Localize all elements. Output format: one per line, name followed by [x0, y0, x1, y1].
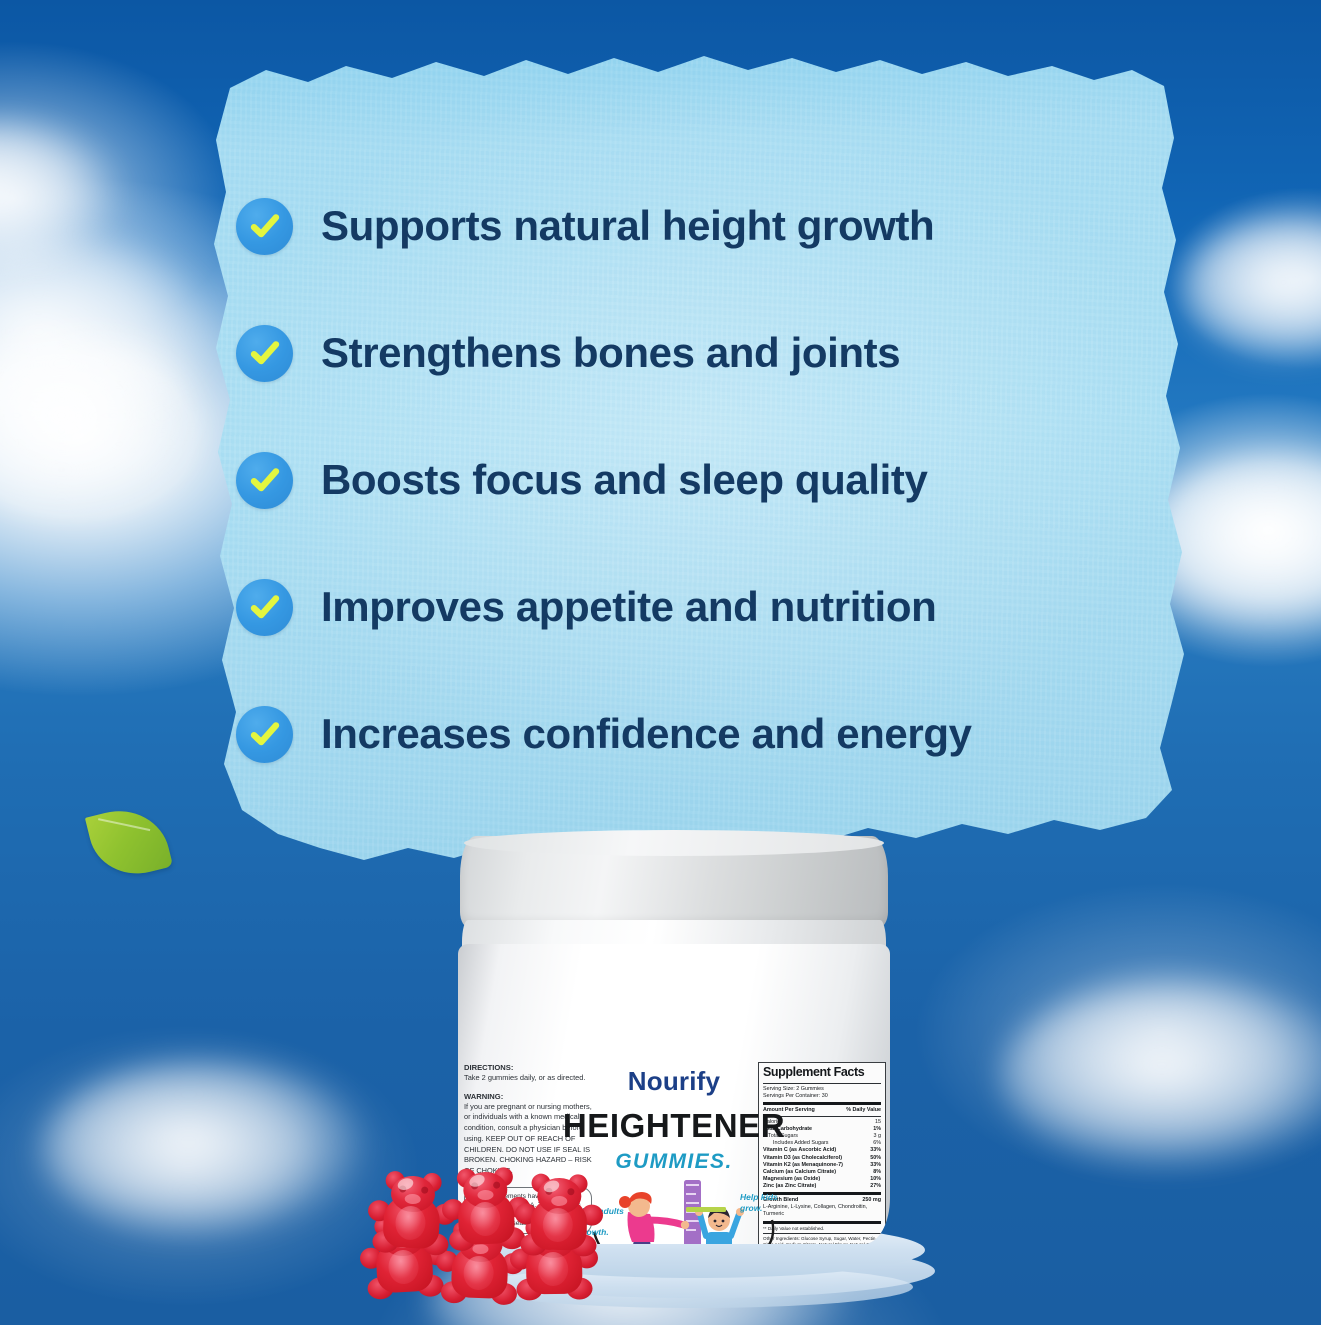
benefit-item: Boosts focus and sleep quality: [236, 444, 1066, 516]
benefit-item: Supports natural height growth: [236, 190, 1066, 262]
growth-illustration: Help adults max growth. Help kids grow.: [576, 1180, 788, 1244]
check-icon: [236, 706, 293, 763]
nutrient-dv: 27%: [870, 1183, 881, 1190]
cloud-shape: [40, 1060, 370, 1240]
benefit-item: Increases confidence and energy: [236, 698, 1066, 770]
cloud-shape: [0, 330, 210, 520]
brand-name: Nourify: [458, 1066, 890, 1097]
benefit-item: Strengthens bones and joints: [236, 317, 1066, 389]
promo-image: Supports natural height growth Strengthe…: [0, 0, 1321, 1325]
cloud-shape: [0, 120, 120, 280]
check-icon: [236, 325, 293, 382]
product-title: HEIGHTENER: [458, 1107, 890, 1145]
benefit-label: Improves appetite and nutrition: [321, 586, 936, 628]
benefit-label: Strengthens bones and joints: [321, 332, 900, 374]
cloud-shape: [1180, 215, 1321, 365]
leaf-icon: [85, 800, 173, 884]
check-icon: [236, 198, 293, 255]
check-icon: [236, 579, 293, 636]
benefit-label: Boosts focus and sleep quality: [321, 459, 927, 501]
jar-lid-top: [464, 830, 884, 856]
cloud-shape: [0, 235, 220, 450]
nutrient-dv: 10%: [870, 1176, 881, 1183]
cloud-shape: [1000, 980, 1321, 1170]
callout-kids: Help kids grow.: [740, 1192, 786, 1213]
gummy-bears-group: [358, 1162, 600, 1325]
benefit-label: Supports natural height growth: [321, 205, 934, 247]
gummy-bear: [512, 1171, 605, 1259]
blend-amount: 250 mg: [862, 1197, 881, 1204]
check-icon: [236, 452, 293, 509]
benefit-label: Increases confidence and energy: [321, 713, 972, 755]
benefits-list: Supports natural height growth Strengthe…: [236, 190, 1066, 825]
benefit-item: Improves appetite and nutrition: [236, 571, 1066, 643]
